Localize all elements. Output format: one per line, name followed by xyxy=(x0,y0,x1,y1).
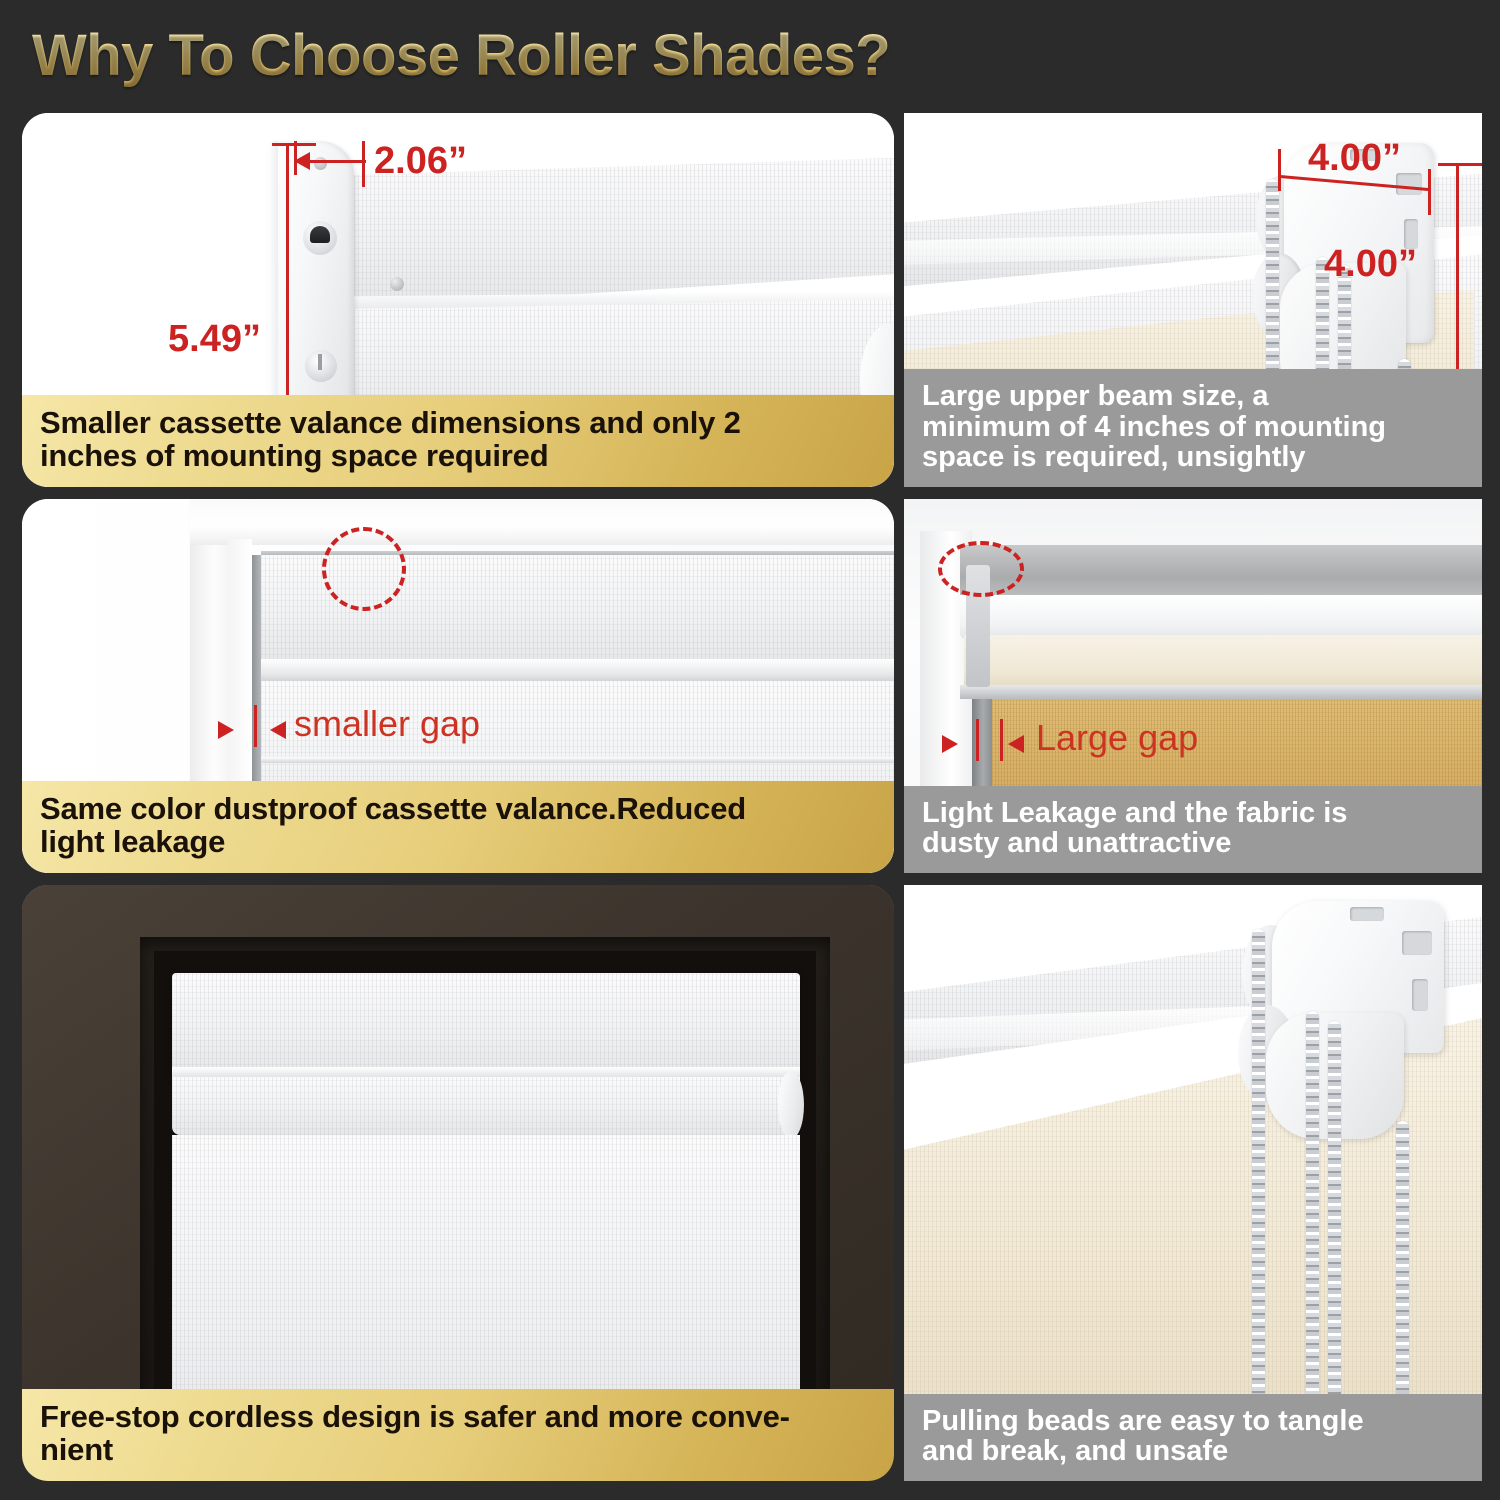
comparison-grid: 2.06” 5.49” Smaller cassette valance dim… xyxy=(22,113,1482,1481)
cassette-roll-face xyxy=(172,1077,800,1135)
gap-arrow-right xyxy=(942,735,958,753)
upper-beam-gray xyxy=(960,545,1482,599)
caption-large-upper-beam: Large upper beam size, a minimum of 4 in… xyxy=(904,369,1482,487)
caption-light-leakage-dusty-fabric: Light Leakage and the fabric is dusty an… xyxy=(904,786,1482,873)
height-dimension-label: 5.49” xyxy=(168,318,261,361)
panel-photo-bead-chains xyxy=(904,885,1482,1481)
rolled-fabric-cream xyxy=(964,635,1482,687)
gap-edge-marker-left xyxy=(976,719,979,761)
bracket-slot-3 xyxy=(1350,907,1384,921)
beam-height-label: 4.00” xyxy=(1324,243,1417,286)
large-gap-label: Large gap xyxy=(1036,717,1198,759)
caption-line-1: Free-stop cordless design is safer and m… xyxy=(40,1401,876,1434)
highlight-circle-icon xyxy=(322,527,406,611)
gap-arrow-left xyxy=(270,721,286,739)
shade-fabric-seam xyxy=(261,757,894,763)
panel-light-leakage-dusty-fabric: Large gap Light Leakage and the fabric i… xyxy=(904,499,1482,873)
gap-edge-marker xyxy=(254,705,257,747)
screw-top-icon xyxy=(314,157,327,170)
caption-line-1: Same color dustproof cassette valance.Re… xyxy=(40,793,876,826)
beam-width-label: 4.00” xyxy=(1308,137,1401,180)
caption-line-1: Light Leakage and the fabric is xyxy=(922,798,1464,829)
highlight-circle-icon xyxy=(938,541,1024,597)
panel-free-stop-cordless-design: Free-stop cordless design is safer and m… xyxy=(22,885,894,1481)
panel-large-upper-beam: 4.00” 4.00” Large upper beam size, a min… xyxy=(904,113,1482,487)
caption-pulling-beads-tangle: Pulling beads are easy to tangle and bre… xyxy=(904,1394,1482,1481)
infographic-page: Why To Choose Roller Shades? xyxy=(0,0,1500,1500)
gap-edge-marker-right xyxy=(1000,719,1003,761)
height-dim-tick-top xyxy=(272,143,316,146)
caption-line-1: Large upper beam size, a xyxy=(922,381,1464,412)
upper-beam-white xyxy=(960,595,1482,639)
window-frame-header xyxy=(190,499,894,545)
caption-line-1: Pulling beads are easy to tangle xyxy=(922,1406,1464,1437)
beam-height-tick-top xyxy=(1438,163,1482,166)
caption-line-3: space is required, unsightly xyxy=(922,442,1464,473)
caption-free-stop-cordless-design: Free-stop cordless design is safer and m… xyxy=(22,1389,894,1481)
beam-height-dim-line xyxy=(1456,163,1459,373)
cassette-end-cap xyxy=(778,1071,804,1139)
gap-arrow-right xyxy=(218,721,234,739)
panel-pulling-beads-tangle: Pulling beads are easy to tangle and bre… xyxy=(904,885,1482,1481)
caption-line-2: dusty and unattractive xyxy=(922,828,1464,859)
smaller-gap-label: smaller gap xyxy=(294,703,480,745)
bracket-pin-icon xyxy=(305,350,337,382)
caption-line-1: Smaller cassette valance dimensions and … xyxy=(40,407,876,440)
screw-mid-icon xyxy=(390,277,404,291)
caption-line-2: and break, and unsafe xyxy=(922,1436,1464,1467)
panel-dustproof-cassette-valance: smaller gap Same color dustproof cassett… xyxy=(22,499,894,873)
gap-arrow-left xyxy=(1008,735,1024,753)
caption-dustproof-cassette-valance: Same color dustproof cassette valance.Re… xyxy=(22,781,894,873)
caption-line-2: minimum of 4 inches of mounting xyxy=(922,412,1464,443)
beam-bottom-edge xyxy=(960,685,1482,699)
width-dimension-label: 2.06” xyxy=(374,140,467,183)
caption-cassette-valance-dimensions: Smaller cassette valance dimensions and … xyxy=(22,395,894,487)
bracket-clip-icon xyxy=(303,221,337,255)
width-dim-tick-right xyxy=(362,141,365,187)
cassette-valance xyxy=(172,973,800,1077)
beam-width-tick-left xyxy=(1278,149,1281,191)
caption-line-2: nient xyxy=(40,1434,876,1467)
width-dim-arrow-left xyxy=(294,152,310,170)
bracket-slot-1 xyxy=(1402,931,1432,955)
panel-cassette-valance-dimensions: 2.06” 5.49” Smaller cassette valance dim… xyxy=(22,113,894,487)
page-title: Why To Choose Roller Shades? xyxy=(32,22,890,89)
caption-line-2: light leakage xyxy=(40,826,876,859)
valance-bottom-lip xyxy=(261,659,894,681)
caption-line-2: inches of mounting space required xyxy=(40,440,876,473)
beam-width-tick-right xyxy=(1428,169,1431,215)
bracket-slot-2 xyxy=(1412,979,1428,1011)
